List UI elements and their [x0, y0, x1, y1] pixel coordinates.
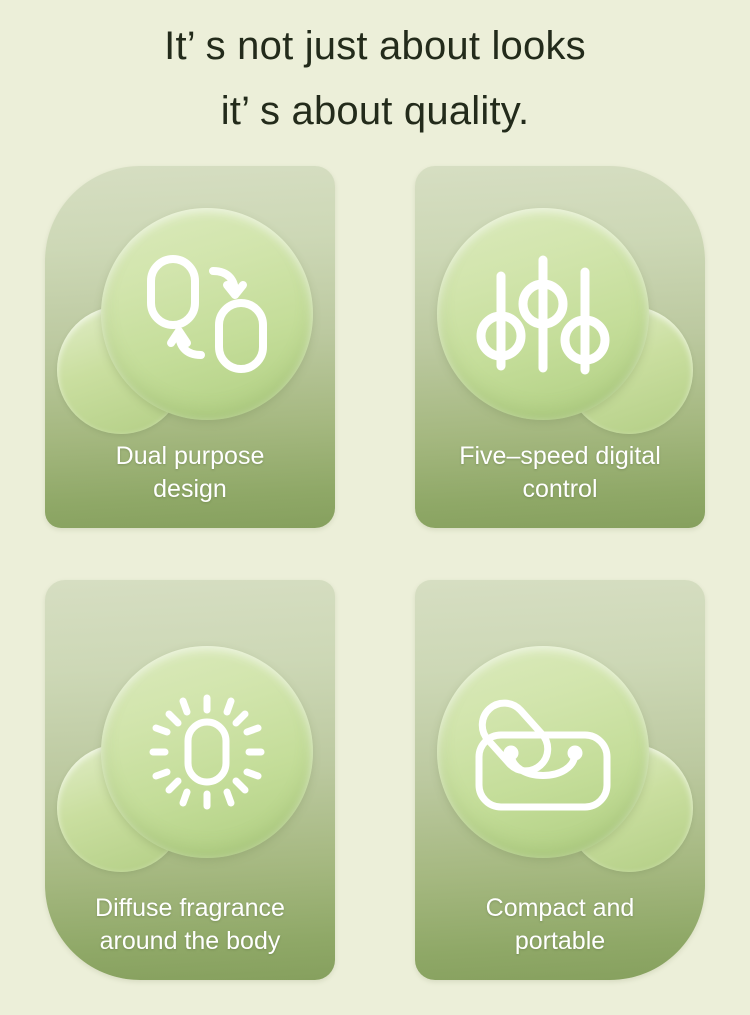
feature-card-dual-purpose-design[interactable]: Dual purpose design [45, 166, 335, 528]
feature-caption: Dual purpose design [45, 440, 335, 506]
decorative-circle-large [101, 646, 313, 858]
decorative-circle-large [437, 208, 649, 420]
feature-card-compact-and-portable[interactable]: Compact and portable [415, 580, 705, 980]
feature-caption: Compact and portable [415, 892, 705, 958]
caption-line-1: Five–speed digital [423, 440, 697, 473]
caption-line-1: Diffuse fragrance [53, 892, 327, 925]
page-headline: It’ s not just about looks it’ s about q… [0, 0, 750, 144]
caption-line-2: design [53, 473, 327, 506]
feature-caption: Five–speed digital control [415, 440, 705, 506]
feature-card-diffuse-fragrance[interactable]: Diffuse fragrance around the body [45, 580, 335, 980]
headline-line-1: It’ s not just about looks [0, 14, 750, 79]
headline-line-2: it’ s about quality. [0, 79, 750, 144]
feature-card-five-speed-digital-control[interactable]: Five–speed digital control [415, 166, 705, 528]
caption-line-1: Dual purpose [53, 440, 327, 473]
decorative-circle-large [437, 646, 649, 858]
caption-line-2: around the body [53, 925, 327, 958]
feature-grid: Dual purpose design Five–speed digital c… [45, 166, 705, 980]
decorative-circle-large [101, 208, 313, 420]
caption-line-2: portable [423, 925, 697, 958]
feature-caption: Diffuse fragrance around the body [45, 892, 335, 958]
caption-line-1: Compact and [423, 892, 697, 925]
caption-line-2: control [423, 473, 697, 506]
